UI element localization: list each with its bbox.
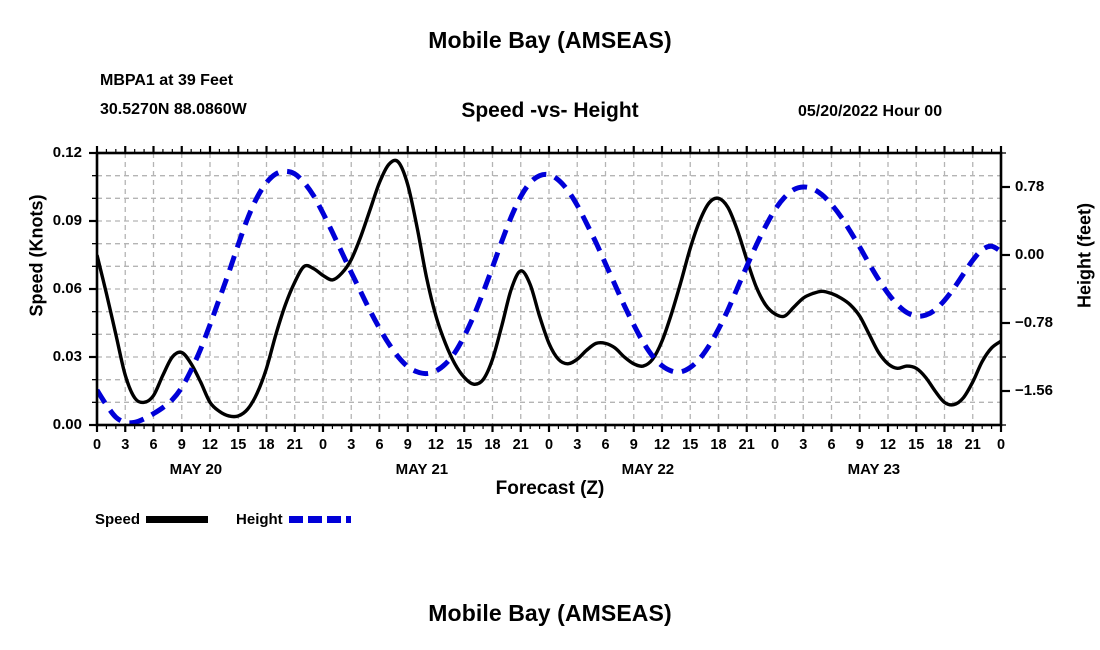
- x-hour-tick-21: 15: [675, 437, 705, 453]
- x-hour-tick-18: 6: [591, 437, 621, 453]
- x-hour-tick-8: 0: [308, 437, 338, 453]
- x-hour-tick-24: 0: [760, 437, 790, 453]
- y-left-tick-4: 0.12: [22, 144, 82, 161]
- x-hour-tick-3: 9: [167, 437, 197, 453]
- x-hour-tick-31: 21: [958, 437, 988, 453]
- x-hour-tick-23: 21: [732, 437, 762, 453]
- x-hour-tick-20: 12: [647, 437, 677, 453]
- x-hour-tick-17: 3: [562, 437, 592, 453]
- x-hour-tick-30: 18: [930, 437, 960, 453]
- x-day-label-0: MAY 20: [136, 461, 256, 478]
- x-hour-tick-19: 9: [619, 437, 649, 453]
- legend-swatch-height: [289, 516, 351, 523]
- x-hour-tick-7: 21: [280, 437, 310, 453]
- x-hour-tick-26: 6: [817, 437, 847, 453]
- x-hour-tick-2: 6: [139, 437, 169, 453]
- x-hour-tick-11: 9: [393, 437, 423, 453]
- y-right-tick-0: 0.78: [1015, 178, 1085, 195]
- x-hour-tick-22: 18: [704, 437, 734, 453]
- legend-label-height: Height: [236, 511, 283, 528]
- x-hour-tick-29: 15: [901, 437, 931, 453]
- x-day-label-3: MAY 23: [814, 461, 934, 478]
- x-hour-tick-9: 3: [336, 437, 366, 453]
- y-right-tick-1: 0.00: [1015, 246, 1085, 263]
- legend-swatch-speed: [146, 516, 208, 523]
- y-left-tick-2: 0.06: [22, 280, 82, 297]
- x-hour-tick-4: 12: [195, 437, 225, 453]
- x-day-label-1: MAY 21: [362, 461, 482, 478]
- x-hour-tick-25: 3: [788, 437, 818, 453]
- x-hour-tick-13: 15: [449, 437, 479, 453]
- y-right-tick-2: −0.78: [1015, 314, 1085, 331]
- x-hour-tick-1: 3: [110, 437, 140, 453]
- y-left-tick-3: 0.09: [22, 212, 82, 229]
- x-hour-tick-32: 0: [986, 437, 1016, 453]
- x-hour-tick-12: 12: [421, 437, 451, 453]
- x-hour-tick-28: 12: [873, 437, 903, 453]
- x-hour-tick-15: 21: [506, 437, 536, 453]
- x-hour-tick-14: 18: [478, 437, 508, 453]
- x-hour-tick-5: 15: [223, 437, 253, 453]
- x-hour-tick-6: 18: [252, 437, 282, 453]
- legend-label-speed: Speed: [95, 511, 140, 528]
- footer-title: Mobile Bay (AMSEAS): [0, 600, 1100, 627]
- y-left-tick-0: 0.00: [22, 416, 82, 433]
- x-hour-tick-27: 9: [845, 437, 875, 453]
- grid-lines: [97, 153, 1001, 425]
- x-hour-tick-16: 0: [534, 437, 564, 453]
- y-right-tick-3: −1.56: [1015, 382, 1085, 399]
- x-hour-tick-10: 6: [365, 437, 395, 453]
- y-left-tick-1: 0.03: [22, 348, 82, 365]
- x-day-label-2: MAY 22: [588, 461, 708, 478]
- x-hour-tick-0: 0: [82, 437, 112, 453]
- chart-legend: Speed Height: [95, 508, 351, 530]
